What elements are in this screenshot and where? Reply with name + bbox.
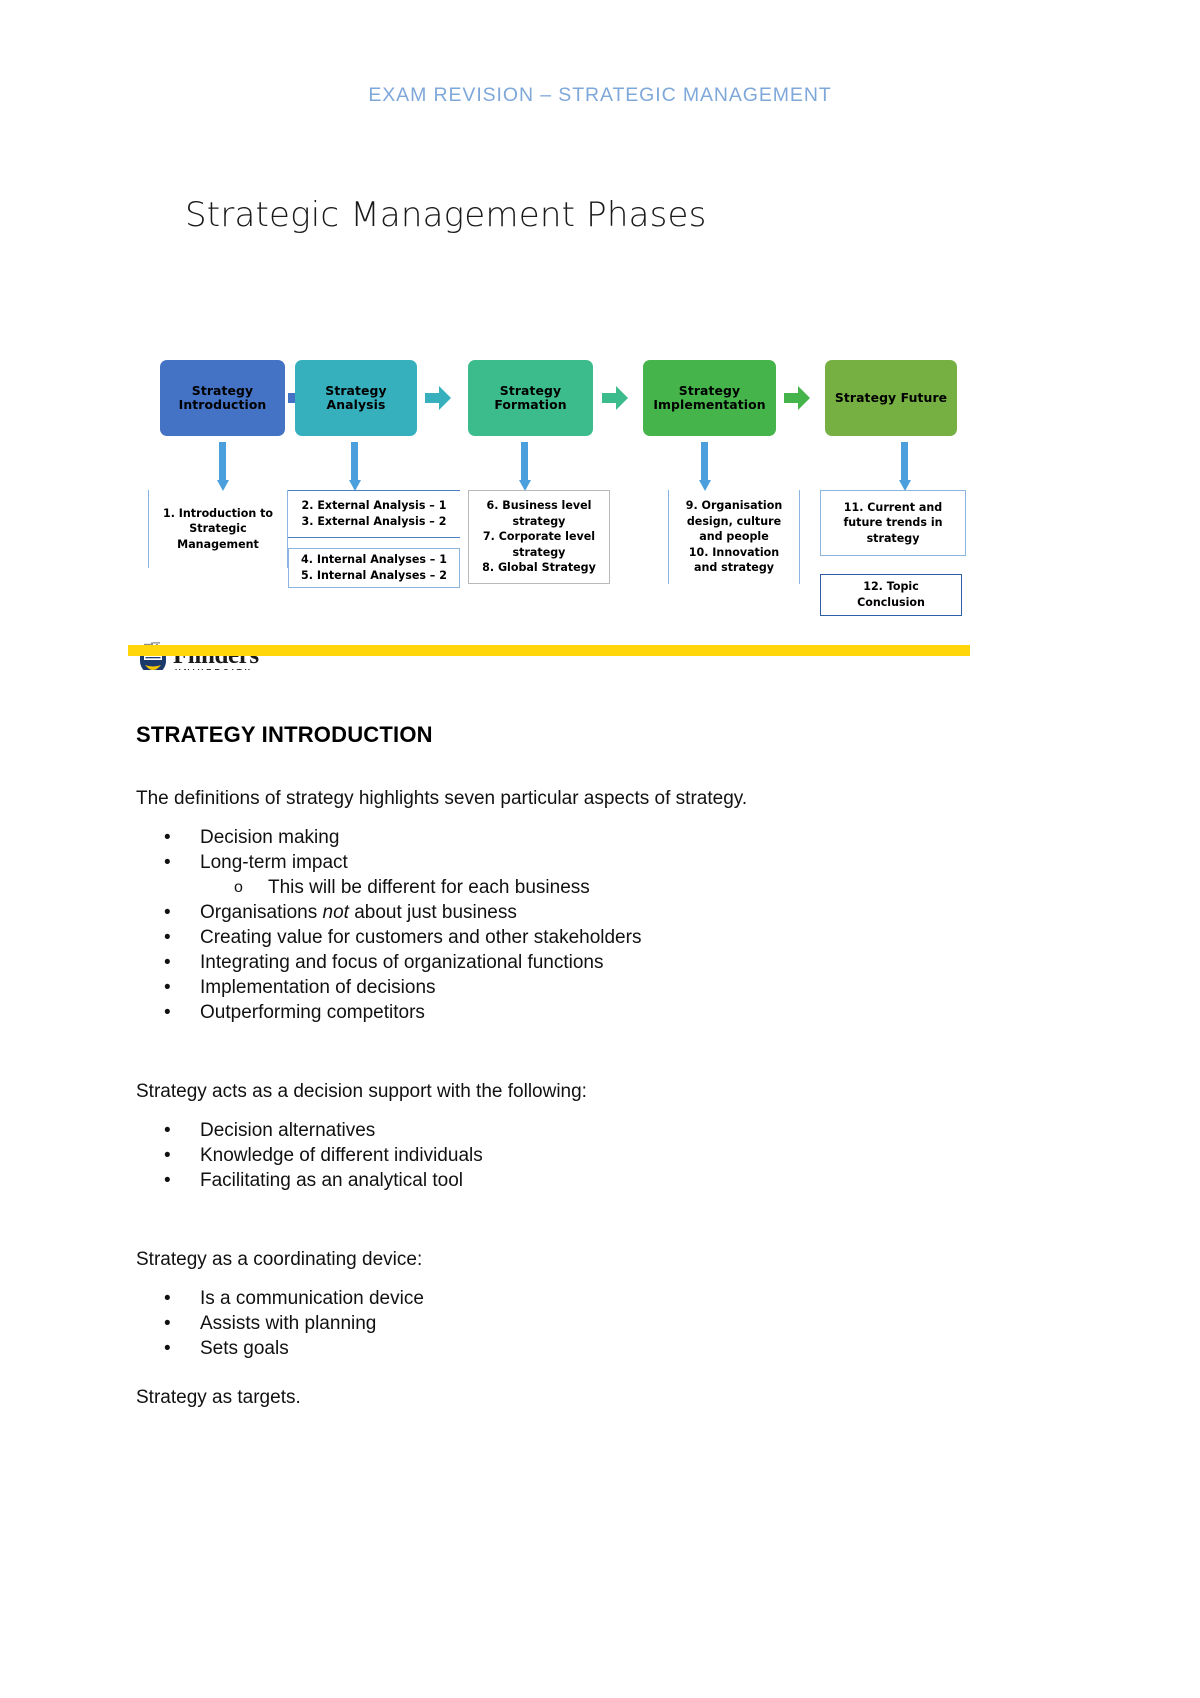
- list-item-label: Long-term impact: [200, 852, 348, 873]
- bullet-glyph: •: [164, 1168, 171, 1193]
- phase-box-strategy-formation: Strategy Formation: [468, 360, 593, 436]
- arrow-right-icon-2: [425, 386, 451, 410]
- topic-box-future-trends: 11. Current andfuture trends instrategy: [820, 490, 966, 556]
- bullet-glyph: •: [164, 825, 171, 850]
- bullet-glyph: •: [164, 1143, 171, 1168]
- running-header: EXAM REVISION – STRATEGIC MANAGEMENT: [0, 84, 1200, 107]
- list-item: oThis will be different for each busines…: [136, 875, 1036, 900]
- bullet-glyph: •: [164, 850, 171, 875]
- topic-box-strategy-levels: 6. Business levelstrategy7. Corporate le…: [468, 490, 610, 584]
- intro-paragraph: The definitions of strategy highlights s…: [136, 786, 1036, 811]
- topic-box-introduction: 1. Introduction toStrategicManagement: [148, 490, 288, 568]
- bullet-glyph: •: [164, 1000, 171, 1025]
- list-item: •Long-term impact: [136, 850, 1036, 875]
- arrow-right-icon-4: [784, 386, 810, 410]
- phase-label: Strategy Introduction: [164, 384, 281, 413]
- list-item: •Assists with planning: [136, 1311, 1036, 1336]
- topic-box-external-analysis: 2. External Analysis – 13. External Anal…: [288, 490, 460, 538]
- bullet-glyph: •: [164, 1118, 171, 1143]
- bullet-glyph: •: [164, 975, 171, 1000]
- document-page: EXAM REVISION – STRATEGIC MANAGEMENT Str…: [0, 0, 1200, 1698]
- list-item-label: Assists with planning: [200, 1313, 376, 1334]
- phase-label: Strategy Future: [835, 391, 947, 406]
- list-item: •Sets goals: [136, 1336, 1036, 1361]
- list-item: •Creating value for customers and other …: [136, 925, 1036, 950]
- list-item: •Decision alternatives: [136, 1118, 1036, 1143]
- list-item: •Outperforming competitors: [136, 1000, 1036, 1025]
- arrow-down-icon-4: [698, 442, 711, 491]
- list-item-label: Outperforming competitors: [200, 1002, 425, 1023]
- list-item-label: Implementation of decisions: [200, 977, 436, 998]
- list-item: •Facilitating as an analytical tool: [136, 1168, 1036, 1193]
- bullet-glyph: •: [164, 900, 171, 925]
- emphasised-word: not: [323, 902, 349, 923]
- list-item: •Integrating and focus of organizational…: [136, 950, 1036, 975]
- phase-box-strategy-implementation: Strategy Implementation: [643, 360, 776, 436]
- coordinating-list: •Is a communication device•Assists with …: [136, 1286, 1036, 1361]
- slide-title: Strategic Management Phases: [185, 195, 707, 235]
- list-item: •Decision making: [136, 825, 1036, 850]
- list-item-label: Sets goals: [200, 1338, 289, 1359]
- arrow-right-icon-3: [602, 386, 628, 410]
- list-item-label: Creating value for customers and other s…: [200, 927, 641, 948]
- phase-label: Strategy Formation: [472, 384, 589, 413]
- topic-box-conclusion: 12. TopicConclusion: [820, 574, 962, 616]
- list-item-label: This will be different for each business: [268, 877, 590, 898]
- phase-label: Strategy Implementation: [647, 384, 772, 413]
- bullet-glyph: •: [164, 1336, 171, 1361]
- list-item-label: Knowledge of different individuals: [200, 1145, 483, 1166]
- bullet-glyph: •: [164, 1311, 171, 1336]
- arrow-down-icon-5: [898, 442, 911, 491]
- topic-box-internal-analysis: 4. Internal Analyses – 15. Internal Anal…: [288, 548, 460, 588]
- decision-support-lead: Strategy acts as a decision support with…: [136, 1079, 1036, 1104]
- arrow-down-icon-1: [216, 442, 229, 491]
- phase-label: Strategy Analysis: [299, 384, 413, 413]
- list-item-label: Organisations not about just business: [200, 902, 517, 923]
- bullet-glyph: •: [164, 1286, 171, 1311]
- slide-image: Strategic Management Phases Strategy Int…: [120, 160, 1000, 670]
- list-item: •Implementation of decisions: [136, 975, 1036, 1000]
- list-item-label: Decision alternatives: [200, 1120, 375, 1141]
- sub-bullet-glyph: o: [234, 875, 243, 900]
- list-item-label: Integrating and focus of organizational …: [200, 952, 604, 973]
- coordinating-lead: Strategy as a coordinating device:: [136, 1247, 1036, 1272]
- arrow-down-icon-3: [518, 442, 531, 491]
- phase-row: Strategy Introduction Strategy Analysis …: [120, 360, 1000, 436]
- decision-support-list: •Decision alternatives•Knowledge of diff…: [136, 1118, 1036, 1193]
- aspects-list: •Decision making•Long-term impactoThis w…: [136, 825, 1036, 1025]
- list-item-label: Facilitating as an analytical tool: [200, 1170, 463, 1191]
- accent-bar: [128, 645, 970, 656]
- list-item: •Knowledge of different individuals: [136, 1143, 1036, 1168]
- arrow-down-icon-2: [348, 442, 361, 491]
- phase-box-strategy-future: Strategy Future: [825, 360, 957, 436]
- page-title: STRATEGY INTRODUCTION: [136, 722, 1036, 748]
- closing-line: Strategy as targets.: [136, 1385, 1036, 1410]
- logo-subtitle: UNIVERSITY: [175, 668, 253, 670]
- bullet-glyph: •: [164, 950, 171, 975]
- list-item-label: Decision making: [200, 827, 339, 848]
- phase-box-strategy-introduction: Strategy Introduction: [160, 360, 285, 436]
- topic-box-organisation: 9. Organisationdesign, cultureand people…: [668, 490, 800, 584]
- list-item-label: Is a communication device: [200, 1288, 424, 1309]
- list-item: •Organisations not about just business: [136, 900, 1036, 925]
- phase-box-strategy-analysis: Strategy Analysis: [295, 360, 417, 436]
- body-content: STRATEGY INTRODUCTION The definitions of…: [136, 722, 1036, 1424]
- bullet-glyph: •: [164, 925, 171, 950]
- list-item: •Is a communication device: [136, 1286, 1036, 1311]
